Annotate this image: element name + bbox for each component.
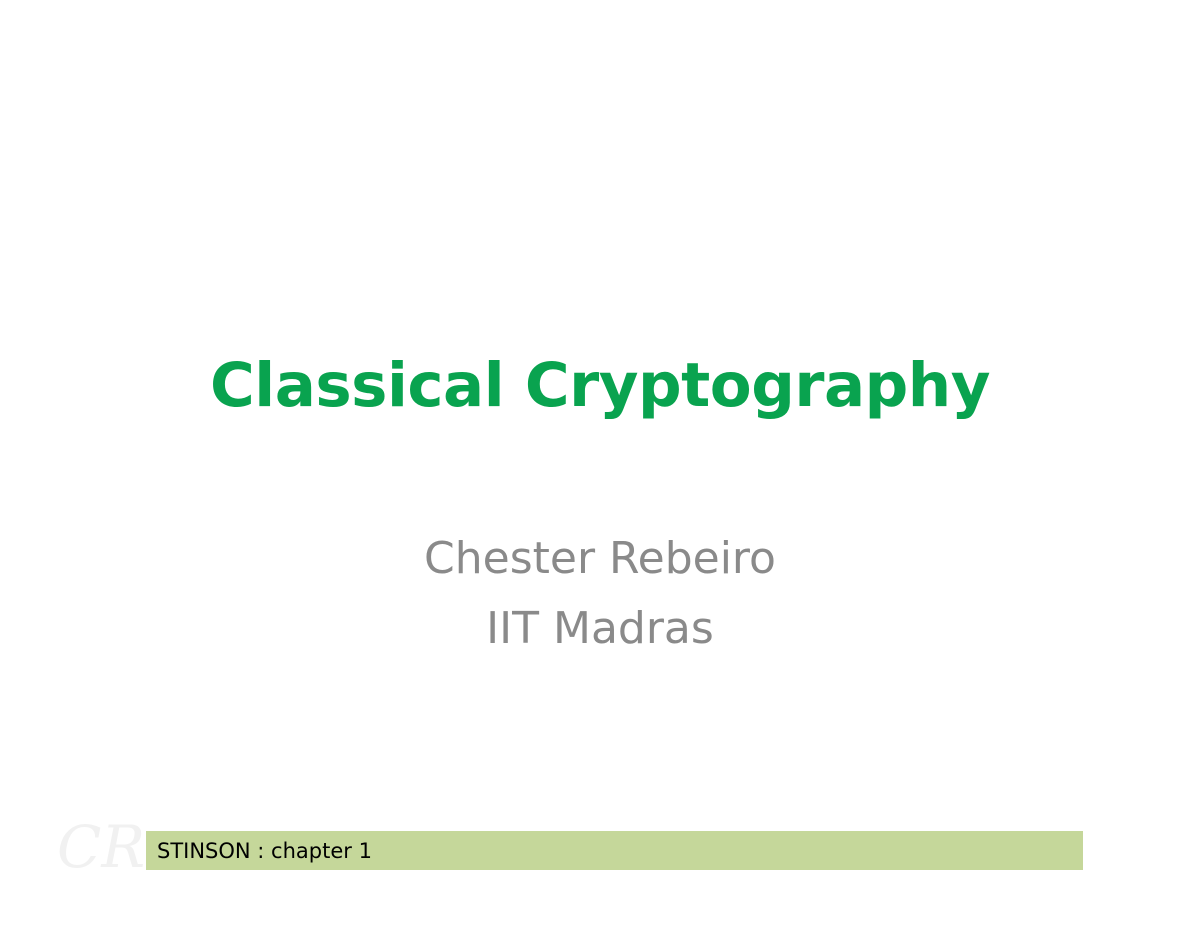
page-title: Classical Cryptography [0,355,1200,416]
cr-watermark: CR [57,818,147,876]
title-area: Classical Cryptography [0,355,1200,416]
subtitle-author: Chester Rebeiro [0,524,1200,594]
subtitle-affiliation: IIT Madras [0,594,1200,664]
subtitle-area: Chester Rebeiro IIT Madras [0,524,1200,663]
presentation-slide: Classical Cryptography Chester Rebeiro I… [0,0,1200,927]
footer-reference-label: STINSON : chapter 1 [157,839,372,863]
footer-bar: STINSON : chapter 1 [146,831,1083,870]
